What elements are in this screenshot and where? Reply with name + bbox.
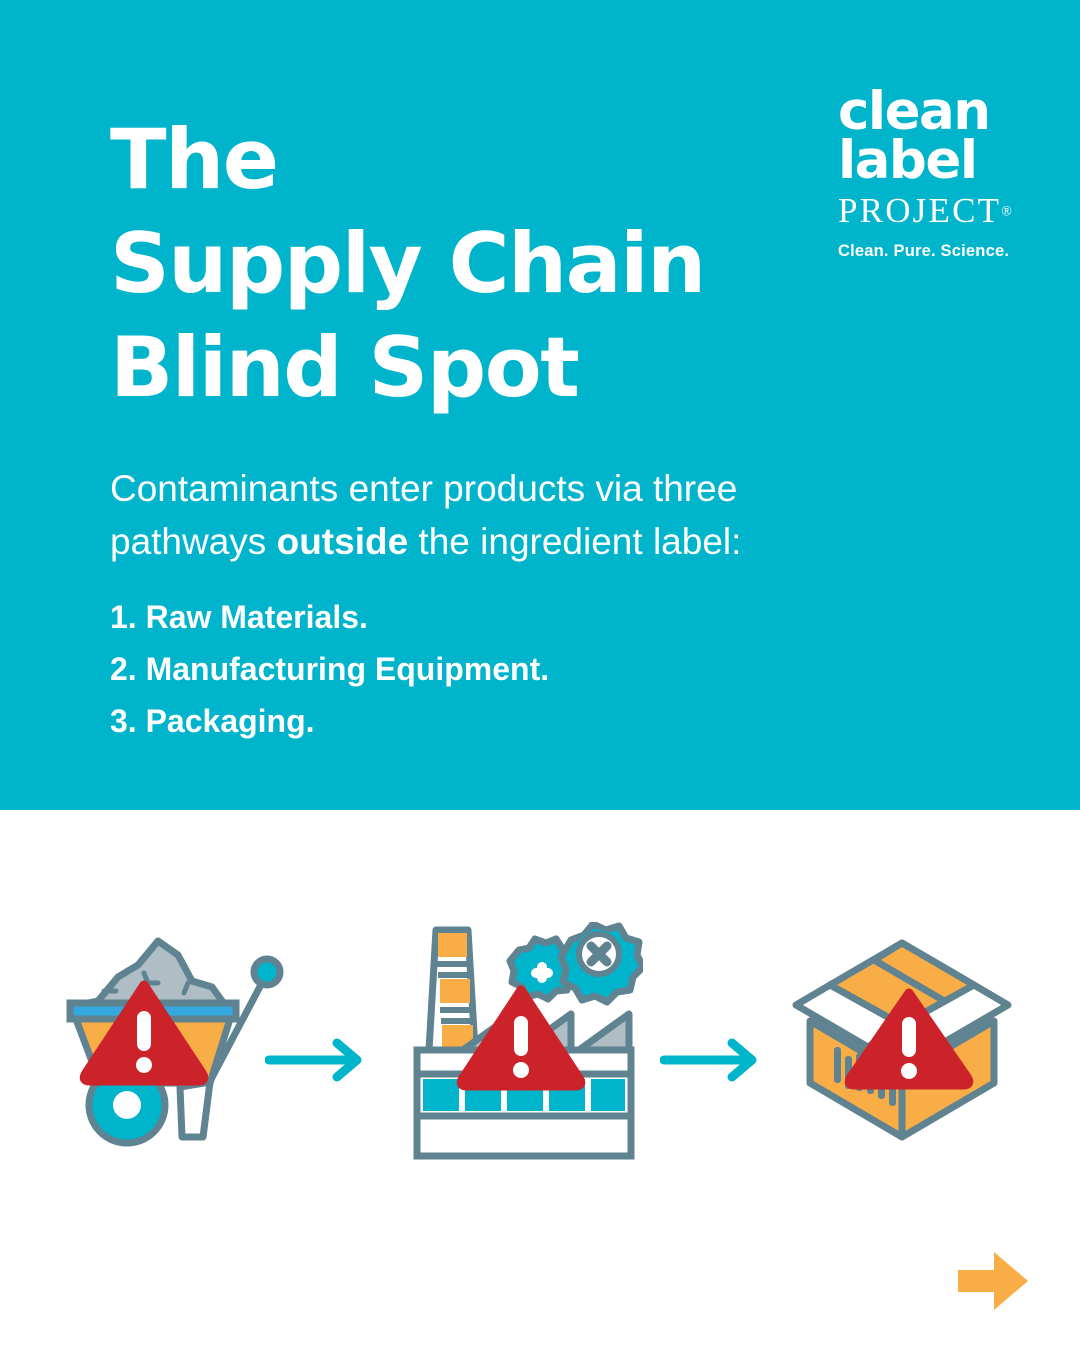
page-title: The Supply Chain Blind Spot bbox=[110, 108, 705, 419]
next-page-arrow[interactable] bbox=[958, 1250, 1030, 1312]
pathway-list: 1. Raw Materials. 2. Manufacturing Equip… bbox=[110, 592, 549, 747]
logo-word-label: label bbox=[838, 137, 1018, 186]
headline-line-1: The bbox=[110, 108, 705, 212]
subtitle-emphasis: outside bbox=[277, 521, 409, 562]
subtitle-suffix: the ingredient label: bbox=[408, 521, 741, 562]
flow-connector-1 bbox=[265, 1038, 370, 1087]
arrow-right-icon bbox=[660, 1038, 765, 1082]
logo-word-project: PROJECT bbox=[838, 191, 1001, 230]
arrow-right-icon bbox=[265, 1038, 370, 1082]
headline-line-3: Blind Spot bbox=[110, 316, 705, 420]
open-box-icon bbox=[778, 925, 1028, 1155]
pathway-item-2: 2. Manufacturing Equipment. bbox=[110, 644, 549, 696]
flow-step-packaging bbox=[778, 925, 1028, 1160]
factory-icon bbox=[403, 922, 643, 1162]
wheelbarrow-icon bbox=[60, 925, 300, 1155]
logo-tagline: Clean. Pure. Science. bbox=[838, 242, 1018, 261]
flow-step-manufacturing-equipment bbox=[403, 922, 643, 1167]
hero-panel: clean label PROJECT® Clean. Pure. Scienc… bbox=[0, 0, 1080, 810]
logo-project-row: PROJECT® bbox=[838, 191, 1018, 231]
pathway-item-1: 1. Raw Materials. bbox=[110, 592, 549, 644]
registered-trademark-icon: ® bbox=[1001, 204, 1012, 219]
next-arrow-icon[interactable] bbox=[958, 1250, 1030, 1312]
headline-line-2: Supply Chain bbox=[110, 212, 705, 316]
subtitle: Contaminants enter products via three pa… bbox=[110, 463, 900, 568]
flow-step-raw-materials bbox=[60, 925, 300, 1160]
flow-connector-2 bbox=[660, 1038, 765, 1087]
gear-x-icon bbox=[561, 924, 643, 1002]
supply-chain-flow bbox=[0, 900, 1080, 1190]
clean-label-project-logo: clean label PROJECT® Clean. Pure. Scienc… bbox=[838, 88, 1018, 261]
pathway-item-3: 3. Packaging. bbox=[110, 696, 549, 748]
